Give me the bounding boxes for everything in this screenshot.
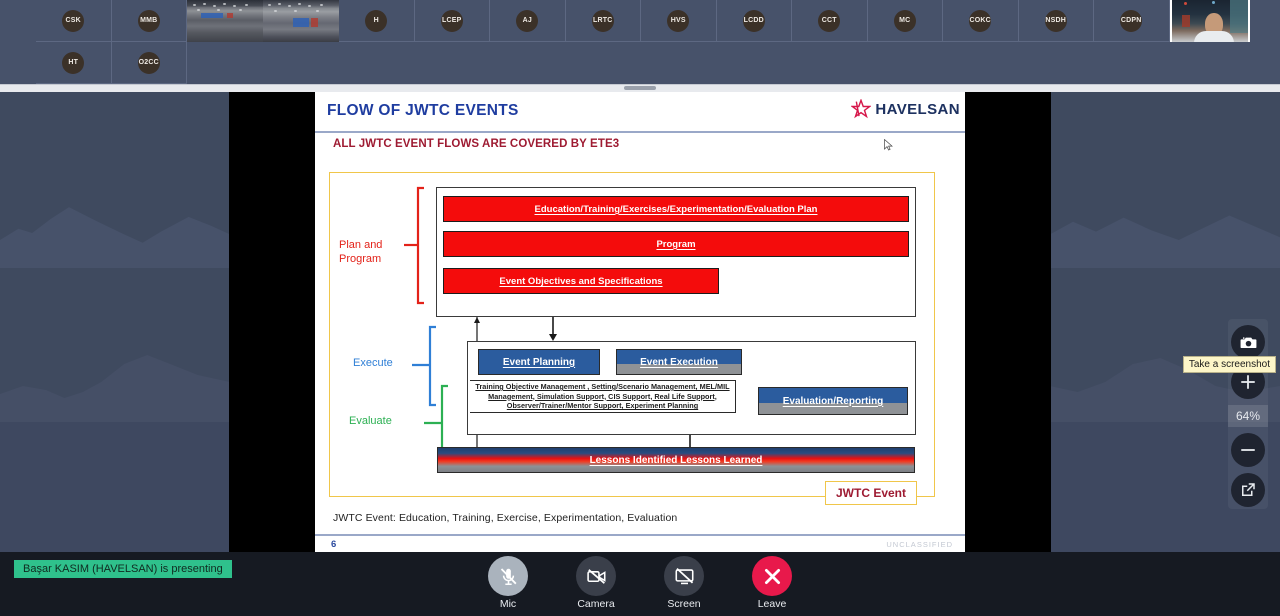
avatar: MMB <box>138 10 160 32</box>
ceiling-lights-icon <box>187 0 263 42</box>
participant-tile[interactable]: LCEP <box>415 0 491 42</box>
bracket-label-plan-line2: Program <box>339 253 381 265</box>
plan-bar-label: Education/Training/Exercises/Experimenta… <box>535 204 818 215</box>
avatar: HVS <box>667 10 689 32</box>
avatar: CSK <box>62 10 84 32</box>
participant-tile[interactable]: MMB <box>112 0 188 42</box>
participant-tile[interactable]: NSDH <box>1019 0 1095 42</box>
havelsan-logo: HAVELSAN <box>851 99 960 119</box>
background-mountain-icon <box>0 422 230 552</box>
participant-tile[interactable]: AJ <box>490 0 566 42</box>
open-external-button[interactable] <box>1231 473 1265 507</box>
slide-header: FLOW OF JWTC EVENTS HAVELSAN <box>315 92 965 132</box>
camera-button[interactable] <box>576 556 616 596</box>
leave-control[interactable]: Leave <box>741 556 803 610</box>
self-video-tile[interactable] <box>1170 0 1250 45</box>
event-execution-box: Event Execution <box>616 349 742 375</box>
participant-video-tile[interactable] <box>187 0 263 42</box>
avatar: AJ <box>516 10 538 32</box>
participant-filmstrip: CSK MMB <box>0 0 1280 84</box>
evaluation-reporting-box: Evaluation/Reporting <box>758 387 908 415</box>
minus-icon <box>1239 441 1257 459</box>
participant-row-2: HT O2CC <box>36 42 1280 84</box>
slide-page-number: 6 <box>331 539 336 550</box>
diagram-container: Plan and Program Execute Evaluate Educat… <box>329 172 935 497</box>
avatar: HT <box>62 52 84 74</box>
screenshot-tooltip: Take a screenshot <box>1183 356 1276 373</box>
header-divider <box>315 131 965 133</box>
slide-canvas: FLOW OF JWTC EVENTS HAVELSAN ALL JWTC EV… <box>315 92 965 552</box>
participant-tile[interactable]: MC <box>868 0 944 42</box>
camera-label: Camera <box>577 598 614 610</box>
participant-tile[interactable]: CDPN <box>1094 0 1170 42</box>
slide-note: JWTC Event: Education, Training, Exercis… <box>333 512 677 524</box>
participant-tile[interactable]: H <box>339 0 415 42</box>
mouse-cursor-icon <box>884 139 893 151</box>
participant-rows: CSK MMB <box>36 0 1280 84</box>
screenshare-toolbar: 64% <box>1228 319 1268 509</box>
filmstrip-resize-handle[interactable] <box>0 84 1280 92</box>
meeting-app: CSK MMB <box>0 0 1280 616</box>
participant-tile[interactable]: LCDD <box>717 0 793 42</box>
event-planning-box: Event Planning <box>478 349 600 375</box>
footer-divider <box>315 534 965 536</box>
bracket-label-execute: Execute <box>353 356 393 370</box>
plan-bar-label: Event Objectives and Specifications <box>499 276 662 287</box>
background-light <box>1184 2 1187 5</box>
participant-tile[interactable]: COKC <box>943 0 1019 42</box>
participant-video-tile[interactable] <box>263 0 339 42</box>
mic-muted-icon <box>498 566 519 587</box>
slide-title: FLOW OF JWTC EVENTS <box>327 102 519 120</box>
bracket-plan-icon <box>418 188 424 303</box>
background-lamp <box>1182 15 1190 27</box>
plan-bar-education: Education/Training/Exercises/Experimenta… <box>443 196 909 222</box>
leave-label: Leave <box>758 598 787 610</box>
close-icon <box>762 566 783 587</box>
lessons-learned-label: Lessons Identified Lessons Learned <box>590 455 763 466</box>
slide-subtitle: ALL JWTC EVENT FLOWS ARE COVERED BY ETE3 <box>333 138 619 150</box>
avatar: CDPN <box>1120 10 1142 32</box>
screen-button[interactable] <box>664 556 704 596</box>
participant-tile[interactable]: CSK <box>36 0 112 42</box>
mic-label: Mic <box>500 598 516 610</box>
zoom-out-button[interactable] <box>1231 433 1265 467</box>
logo-text: HAVELSAN <box>875 101 960 118</box>
execute-box: Event Planning Event Execution Evaluatio… <box>467 341 916 435</box>
plan-bar-program: Program <box>443 231 909 257</box>
room-person <box>227 13 233 18</box>
room-table <box>201 13 223 18</box>
presentation-stage: FLOW OF JWTC EVENTS HAVELSAN ALL JWTC EV… <box>0 92 1280 552</box>
evaluation-reporting-label: Evaluation/Reporting <box>783 396 884 407</box>
leave-button[interactable] <box>752 556 792 596</box>
shared-screen-frame[interactable]: FLOW OF JWTC EVENTS HAVELSAN ALL JWTC EV… <box>229 92 1051 552</box>
classification-marking: UNCLASSIFIED <box>886 540 953 549</box>
jwtc-event-tag: JWTC Event <box>825 481 917 505</box>
bracket-label-plan-line1: Plan and <box>339 239 382 251</box>
participant-tile[interactable]: HT <box>36 42 112 84</box>
bracket-label-evaluate: Evaluate <box>349 414 392 428</box>
bracket-execute-icon <box>430 327 436 405</box>
plan-bar-label: Program <box>656 239 695 250</box>
plan-and-program-box: Education/Training/Exercises/Experimenta… <box>436 187 916 317</box>
background-mountain-icon <box>1050 198 1280 268</box>
plan-bar-objectives: Event Objectives and Specifications <box>443 268 719 294</box>
background-mountain-icon <box>0 198 230 268</box>
avatar: LCDD <box>743 10 765 32</box>
background-wall <box>1230 0 1248 33</box>
screen-control[interactable]: Screen <box>653 556 715 610</box>
avatar: NSDH <box>1045 10 1067 32</box>
empty-strip-area <box>187 42 1279 84</box>
participant-tile[interactable]: LRTC <box>566 0 642 42</box>
avatar: H <box>365 10 387 32</box>
screen-label: Screen <box>667 598 700 610</box>
avatar: O2CC <box>138 52 160 74</box>
plus-icon <box>1239 373 1257 391</box>
avatar: MC <box>894 10 916 32</box>
execute-detail-text: Training Objective Management , Setting/… <box>470 380 736 413</box>
participant-tile[interactable]: O2CC <box>112 42 188 84</box>
presenting-banner: Başar KASIM (HAVELSAN) is presenting <box>14 560 232 578</box>
lessons-learned-bar: Lessons Identified Lessons Learned <box>437 447 915 473</box>
zoom-level-display: 64% <box>1228 405 1268 427</box>
star-icon <box>851 99 871 119</box>
participant-tile[interactable]: HVS <box>641 0 717 42</box>
room-person <box>311 18 318 27</box>
drag-grip-icon <box>624 86 656 90</box>
screenshot-button[interactable] <box>1231 325 1265 359</box>
participant-row-1: CSK MMB <box>36 0 1280 42</box>
mic-control[interactable]: Mic <box>477 556 539 610</box>
camera-control[interactable]: Camera <box>565 556 627 610</box>
mic-button[interactable] <box>488 556 528 596</box>
screen-off-icon <box>674 566 695 587</box>
avatar: LRTC <box>592 10 614 32</box>
camera-icon <box>1239 333 1258 352</box>
background-light <box>1212 1 1215 4</box>
event-execution-label: Event Execution <box>640 357 718 368</box>
avatar: COKC <box>969 10 991 32</box>
open-external-icon <box>1239 481 1257 499</box>
meeting-controls: Mic Camera <box>477 556 803 610</box>
room-table <box>293 18 309 27</box>
bracket-label-plan: Plan and Program <box>339 238 382 266</box>
event-planning-label: Event Planning <box>503 357 575 368</box>
avatar: CCT <box>818 10 840 32</box>
camera-off-icon <box>586 566 607 587</box>
participant-tile[interactable]: CCT <box>792 0 868 42</box>
avatar: LCEP <box>441 10 463 32</box>
